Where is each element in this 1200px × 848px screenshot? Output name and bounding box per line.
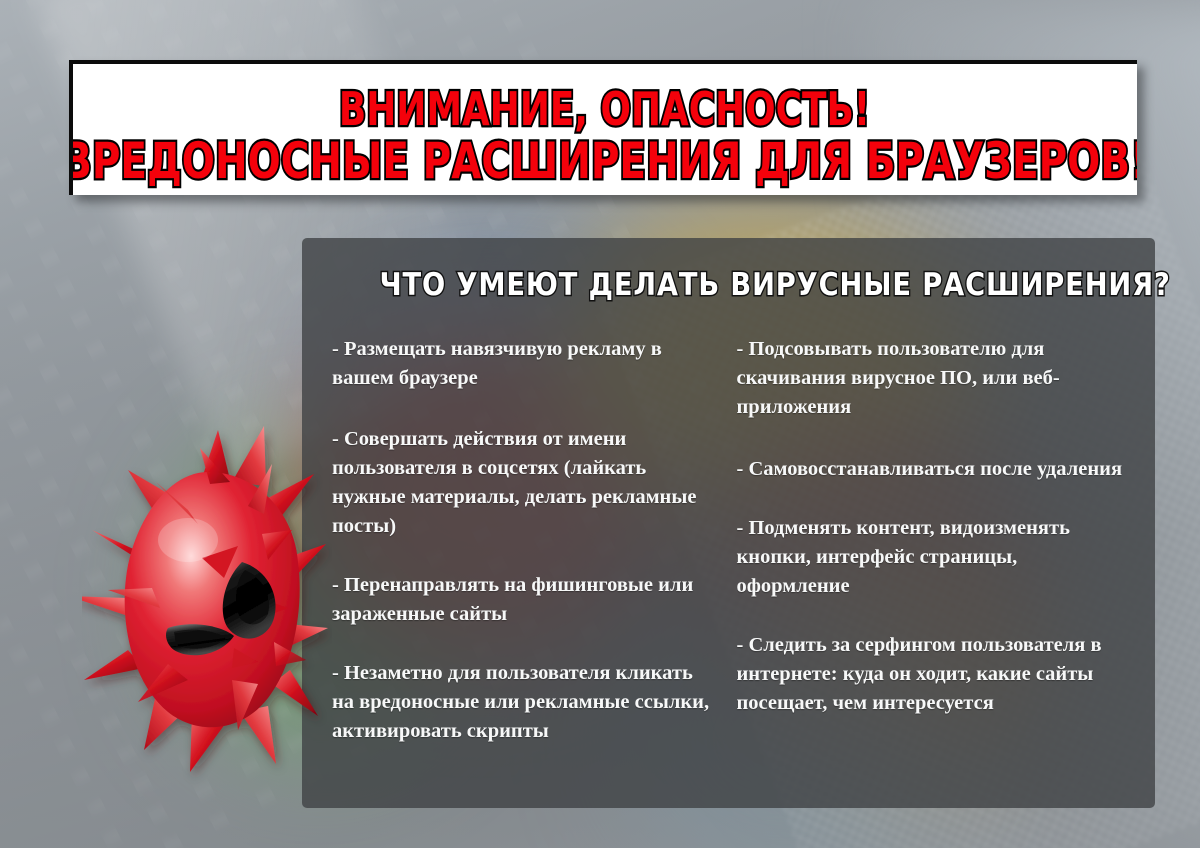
list-item: - Перенаправлять на фишинговые или зараж… (332, 571, 711, 629)
list-item: - Самовосстанавливаться после удаления (737, 455, 1126, 484)
title-line-2: ВРЕДОНОСНЫЕ РАСШИРЕНИЯ ДЛЯ БРАУЗЕРОВ! (69, 136, 1137, 186)
title-line-1: ВНИМАНИЕ, ОПАСНОСТЬ! (339, 86, 870, 132)
poster-canvas: ВНИМАНИЕ, ОПАСНОСТЬ! ВРЕДОНОСНЫЕ РАСШИРЕ… (0, 0, 1200, 848)
list-item: - Незаметно для пользователя кликать на … (332, 659, 711, 746)
panel-heading: ЧТО УМЕЮТ ДЕЛАТЬ ВИРУСНЫЕ РАСШИРЕНИЯ? (380, 270, 1078, 301)
angry-red-virus-icon (82, 412, 332, 787)
virus-body-group (82, 426, 328, 772)
content-panel: ЧТО УМЕЮТ ДЕЛАТЬ ВИРУСНЫЕ РАСШИРЕНИЯ? - … (302, 238, 1155, 808)
left-bullet-column: - Размещать навязчивую рекламу в вашем б… (332, 335, 729, 746)
title-banner: ВНИМАНИЕ, ОПАСНОСТЬ! ВРЕДОНОСНЫЕ РАСШИРЕ… (69, 60, 1137, 195)
list-item: - Подсовывать пользователю для скачивани… (737, 335, 1126, 422)
virus-highlight (158, 518, 218, 562)
bullet-columns: - Размещать навязчивую рекламу в вашем б… (332, 335, 1125, 746)
list-item: - Подменять контент, видоизменять кнопки… (737, 514, 1126, 601)
list-item: - Размещать навязчивую рекламу в вашем б… (332, 335, 711, 393)
list-item: - Следить за серфингом пользователя в ин… (737, 631, 1126, 718)
list-item: - Совершать действия от имени пользовате… (332, 425, 711, 541)
right-bullet-column: - Подсовывать пользователю для скачивани… (729, 335, 1126, 718)
